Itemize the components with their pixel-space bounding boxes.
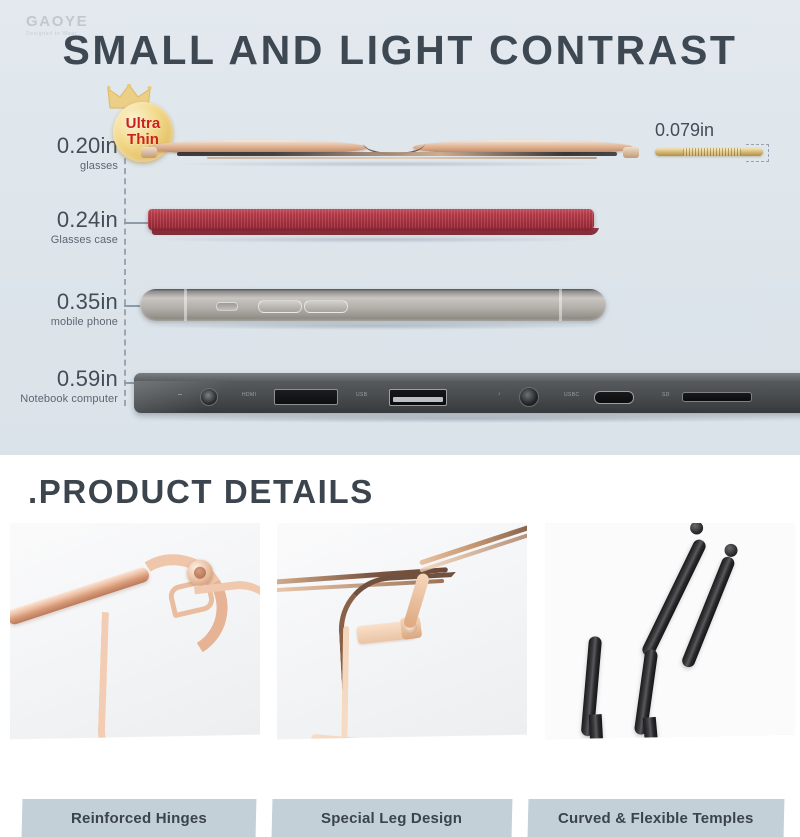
- detail-caption-hinges: Reinforced Hinges: [22, 799, 257, 837]
- detail-panel-temples: [545, 523, 795, 800]
- measurement-name: mobile phone: [0, 315, 118, 329]
- frame-rim-left: [97, 612, 169, 740]
- temple-a-lower: [589, 714, 604, 739]
- product-mobile-phone: [140, 289, 606, 321]
- measurement-guide-line: [124, 148, 126, 406]
- temple-arm: [419, 523, 527, 566]
- usb-a-port: [389, 389, 447, 406]
- measurement-tick-case: [124, 222, 148, 224]
- usbc-port-marking: USBC: [564, 392, 580, 398]
- laptop-shadow: [140, 414, 800, 423]
- usb-c-port: [594, 391, 634, 404]
- glasses-case-shadow: [150, 236, 596, 243]
- sd-slot-marking: SD: [662, 392, 670, 398]
- detail-panel-leg-design: [277, 523, 527, 800]
- product-details-section: .PRODUCT DETAILS: [0, 455, 800, 800]
- frame-rim-right: [194, 576, 260, 656]
- temple-wire: [207, 157, 597, 159]
- measurement-value: 0.35in: [0, 289, 118, 314]
- product-notebook-computer: ⎓ HDMI USB ♪ USBC SD: [134, 373, 800, 413]
- power-port-marking: ⎓: [178, 392, 182, 398]
- temple-b-lower: [643, 717, 660, 740]
- measurement-label-laptop: 0.59in Notebook computer: [0, 366, 118, 406]
- audio-port-marking: ♪: [498, 391, 501, 397]
- section-title: .PRODUCT DETAILS: [28, 472, 374, 512]
- antenna-band-right: [559, 289, 562, 321]
- phone-shadow: [145, 322, 601, 330]
- glasses-shadow: [175, 161, 605, 167]
- hdmi-port-marking: HDMI: [242, 392, 256, 398]
- headphone-jack-port: [519, 387, 539, 407]
- caption-text: Reinforced Hinges: [71, 810, 207, 827]
- size-contrast-section: GAOYE Designed to Wear SMALL AND LIGHT C…: [0, 0, 800, 455]
- volume-up-button: [258, 300, 302, 313]
- product-glasses-edge-view: [135, 129, 645, 171]
- hinge-right: [623, 147, 639, 158]
- hinge-illustration: [10, 523, 260, 740]
- power-jack-port: [200, 388, 218, 406]
- thickness-callout-value: 0.079in: [655, 119, 775, 141]
- detail-caption-temples: Curved & Flexible Temples: [528, 799, 785, 837]
- detail-photo-leg: [277, 523, 527, 740]
- usb-port-marking: USB: [356, 392, 367, 398]
- temple-tip-texture: [683, 148, 741, 156]
- detail-panel-hinges: [10, 523, 260, 800]
- antenna-band-left: [184, 289, 187, 321]
- hinge-left: [141, 147, 157, 158]
- measurement-name: Notebook computer: [0, 392, 118, 406]
- detail-photo-hinge: [10, 523, 260, 740]
- glasses-case-edge: [150, 228, 599, 235]
- laptop-highlight: [134, 381, 244, 413]
- temple-tip-sample: [655, 145, 765, 159]
- sd-card-slot: [682, 392, 752, 402]
- caption-text: Curved & Flexible Temples: [558, 810, 754, 827]
- measurement-label-phone: 0.35in mobile phone: [0, 289, 118, 329]
- page-title: SMALL AND LIGHT CONTRAST: [0, 26, 800, 74]
- mute-switch: [216, 302, 238, 311]
- detail-caption-leg-design: Special Leg Design: [272, 799, 513, 837]
- temple-a-tip-cap: [690, 523, 703, 535]
- temple-illustration: [545, 523, 795, 740]
- measurement-name: Glasses case: [0, 233, 118, 247]
- caliper-bracket: [746, 144, 769, 162]
- temple-arm-inner: [419, 531, 527, 573]
- frame-vertical-rim: [341, 626, 349, 739]
- caption-text: Special Leg Design: [321, 810, 462, 827]
- temple-b-tip-cap: [724, 544, 737, 557]
- measurement-label-case: 0.24in Glasses case: [0, 207, 118, 247]
- detail-photo-temples: [545, 523, 795, 740]
- measurement-value: 0.24in: [0, 207, 118, 232]
- laptop-lid-edge: [134, 373, 800, 381]
- measurement-value: 0.59in: [0, 366, 118, 391]
- volume-down-button: [304, 300, 348, 313]
- glasses-body: [147, 137, 633, 157]
- leg-illustration: [277, 523, 527, 740]
- hdmi-port: [274, 389, 338, 405]
- frame-bottom-rim: [311, 734, 441, 740]
- detail-panels: Reinforced Hinges Special Leg Design Cur…: [0, 523, 800, 800]
- temple-folded: [177, 152, 617, 156]
- infographic-page: GAOYE Designed to Wear SMALL AND LIGHT C…: [0, 0, 800, 800]
